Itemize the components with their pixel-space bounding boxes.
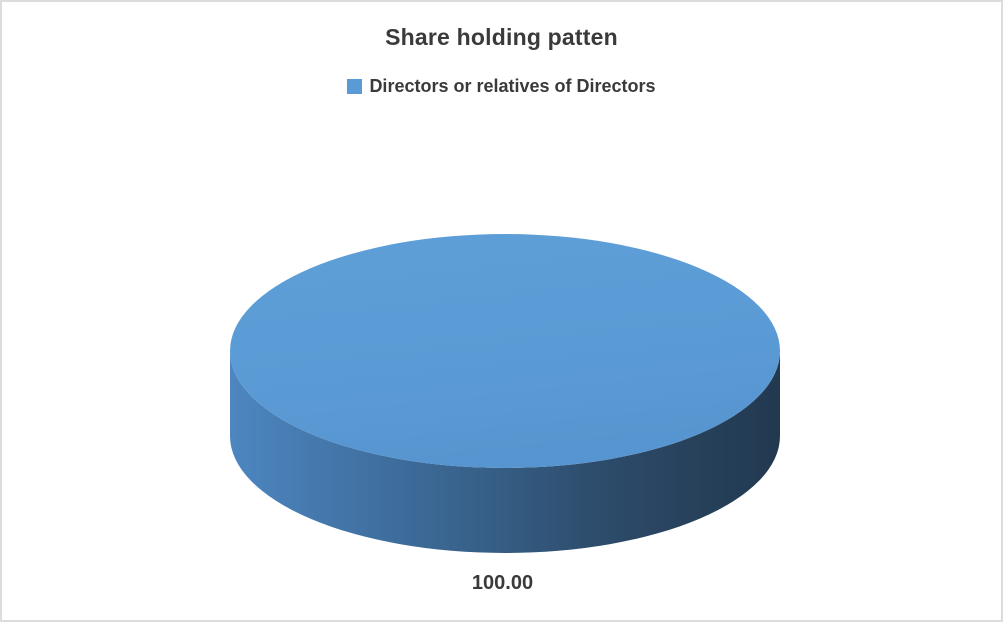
pie-slice-top-directors[interactable] — [230, 234, 780, 468]
pie-data-label-container: 100.00 — [2, 570, 1001, 596]
pie-chart-plot-area — [2, 2, 1003, 622]
chart-container: Share holding patten Directors or relati… — [0, 0, 1003, 622]
pie-data-label-value: 100.00 — [472, 572, 533, 594]
pie-3d-graphic — [2, 2, 1003, 622]
